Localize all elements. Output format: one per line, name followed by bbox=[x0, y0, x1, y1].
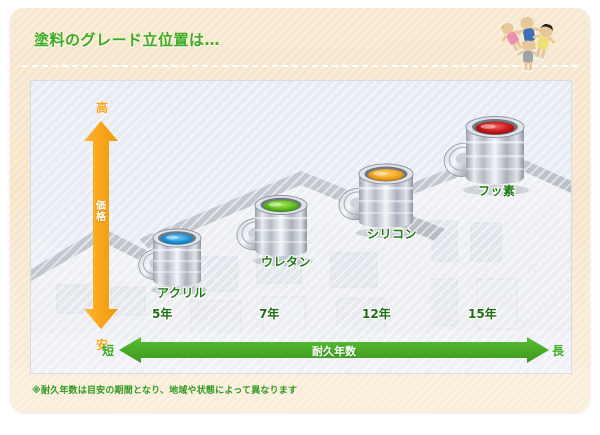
data-label-urethane: ウレタン bbox=[261, 253, 311, 270]
axis-label-high: 高 bbox=[86, 99, 118, 116]
data-point-acrylic: アクリル bbox=[131, 216, 223, 296]
year-label-silicone: 12年 bbox=[362, 305, 391, 322]
axis-label-durability: 耐久年数 bbox=[119, 343, 549, 359]
axis-label-short: 短 bbox=[102, 342, 114, 359]
data-point-urethane: ウレタン bbox=[229, 181, 329, 267]
axis-label-price: 価格 bbox=[92, 201, 110, 223]
people-illustration bbox=[480, 12, 576, 72]
year-label-fluorine: 15年 bbox=[468, 305, 497, 322]
year-label-acrylic: 5年 bbox=[152, 305, 172, 322]
data-point-fluorine: フッ素 bbox=[436, 101, 546, 199]
data-label-fluorine: フッ素 bbox=[478, 182, 516, 199]
price-axis-arrow bbox=[84, 121, 118, 329]
data-label-silicone: シリコン bbox=[367, 225, 417, 242]
data-point-silicone: シリコン bbox=[331, 149, 435, 241]
data-label-acrylic: アクリル bbox=[157, 284, 206, 301]
year-label-urethane: 7年 bbox=[259, 305, 279, 322]
chart-panel: 高 価格 安 短 耐久年数 bbox=[30, 80, 572, 374]
info-card: 塗料のグレード立位置は… bbox=[10, 8, 590, 412]
axis-label-long: 長 bbox=[552, 342, 564, 359]
footnote-text: ※耐久年数は目安の期間となり、地域や状態によって異なります bbox=[32, 383, 297, 396]
page-title: 塗料のグレード立位置は… bbox=[34, 29, 220, 50]
